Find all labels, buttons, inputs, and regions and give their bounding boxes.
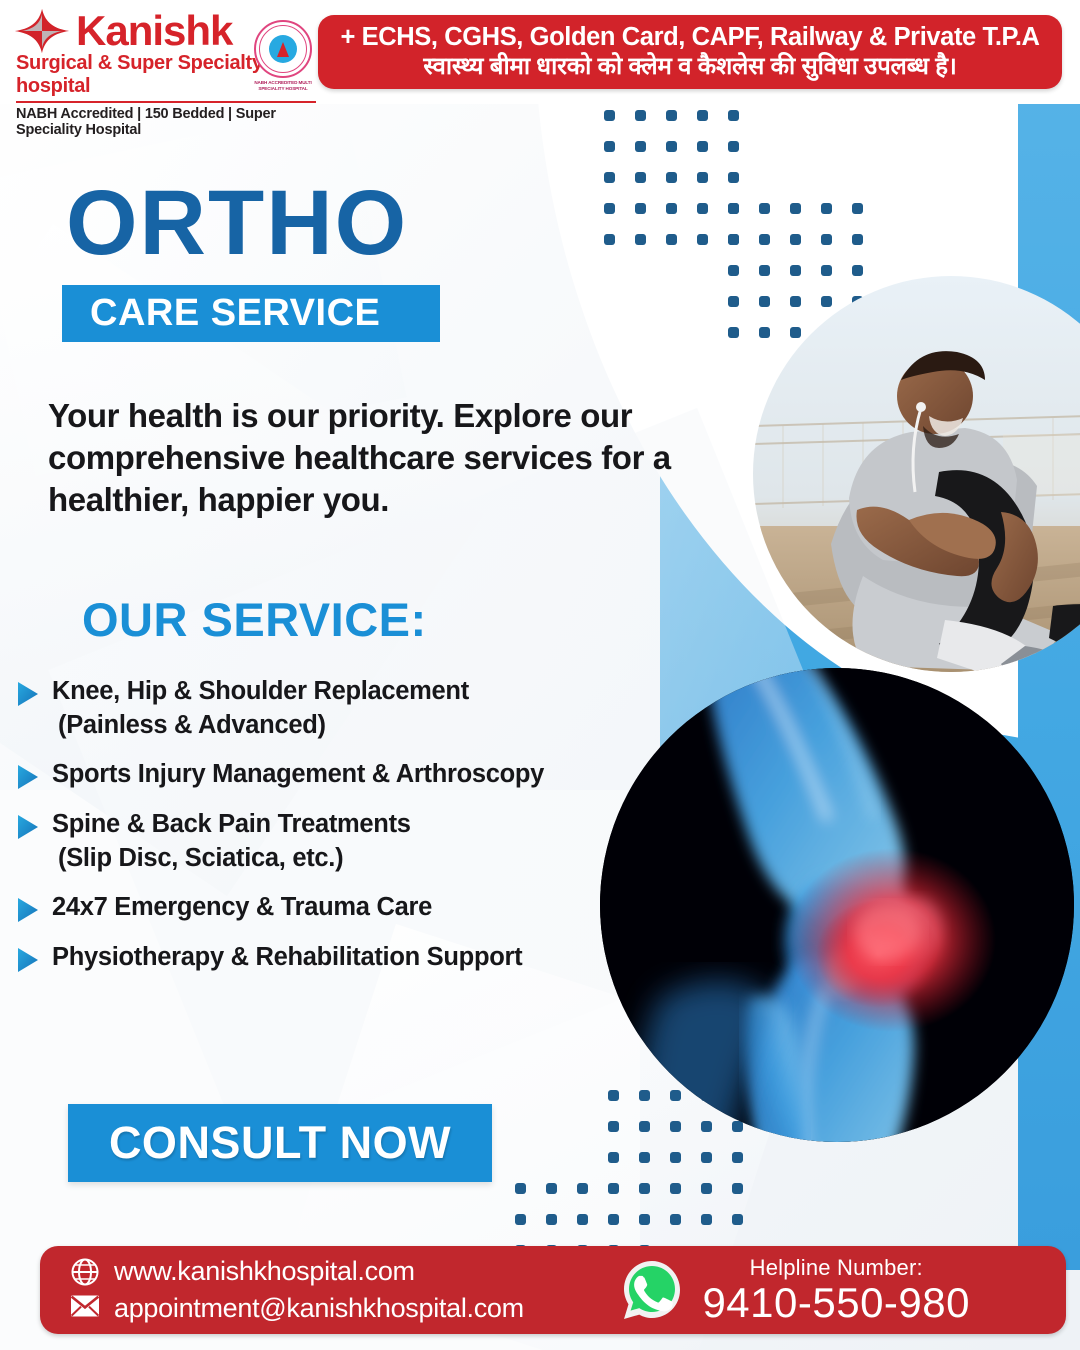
- service-item-text: Sports Injury Management & Arthroscopy: [52, 758, 544, 792]
- service-item-text: Spine & Back Pain Treatments(Slip Disc, …: [52, 808, 411, 875]
- service-item-subtext: (Slip Disc, Sciatica, etc.): [52, 842, 411, 876]
- subtitle-text: CARE SERVICE: [62, 292, 380, 335]
- consult-now-label: CONSULT NOW: [109, 1117, 451, 1169]
- consult-now-button[interactable]: CONSULT NOW: [68, 1104, 492, 1182]
- tagline-text: Your health is our priority. Explore our…: [48, 395, 688, 522]
- helpline-number: 9410-550-980: [702, 1281, 970, 1325]
- envelope-icon: [70, 1294, 100, 1324]
- website-contact-row[interactable]: www.kanishkhospital.com: [70, 1256, 524, 1287]
- service-list-item: Knee, Hip & Shoulder Replacement(Painles…: [16, 675, 626, 742]
- four-point-star-icon: [14, 8, 70, 54]
- arrow-bullet-icon: [16, 814, 40, 840]
- website-text: www.kanishkhospital.com: [114, 1256, 415, 1287]
- service-list-item: 24x7 Emergency & Trauma Care: [16, 891, 626, 925]
- whatsapp-icon[interactable]: [620, 1258, 684, 1322]
- logo-divider: [16, 101, 316, 103]
- nabh-accreditation-seal: NABH ACCREDITED MULTI SPECIALITY HOSPITA…: [252, 20, 314, 92]
- service-item-text: 24x7 Emergency & Trauma Care: [52, 891, 432, 925]
- globe-icon: [70, 1257, 100, 1287]
- email-contact-row[interactable]: appointment@kanishkhospital.com: [70, 1293, 524, 1324]
- hospital-name: Kanishk: [76, 10, 232, 52]
- services-list: Knee, Hip & Shoulder Replacement(Painles…: [16, 675, 626, 991]
- tpa-insurance-banner: + ECHS, CGHS, Golden Card, CAPF, Railway…: [318, 15, 1062, 89]
- page-title: ORTHO: [66, 177, 408, 269]
- tpa-banner-line-2: स्वास्थ्य बीमा धारको को क्लेम व कैशलेस क…: [423, 53, 956, 82]
- subtitle-badge: CARE SERVICE: [62, 285, 440, 342]
- arrow-bullet-icon: [16, 764, 40, 790]
- arrow-bullet-icon: [16, 897, 40, 923]
- arrow-bullet-icon: [16, 947, 40, 973]
- contact-footer-bar: www.kanishkhospital.com appointment@kani…: [40, 1246, 1066, 1334]
- poster-header: Kanishk Surgical & Super Specialty hospi…: [0, 0, 1080, 104]
- knee-joint-xray-photo: [600, 668, 1074, 1142]
- service-list-item: Physiotherapy & Rehabilitation Support: [16, 941, 626, 975]
- nabh-seal-caption: NABH ACCREDITED MULTI SPECIALITY HOSPITA…: [252, 80, 314, 91]
- helpline-label: Helpline Number:: [750, 1255, 923, 1281]
- services-heading: OUR SERVICE:: [82, 592, 427, 647]
- accreditation-line: NABH Accredited | 150 Bedded | Super Spe…: [8, 106, 328, 138]
- poster-canvas: Kanishk Surgical & Super Specialty hospi…: [0, 0, 1080, 1350]
- service-list-item: Sports Injury Management & Arthroscopy: [16, 758, 626, 792]
- service-list-item: Spine & Back Pain Treatments(Slip Disc, …: [16, 808, 626, 875]
- service-item-text: Knee, Hip & Shoulder Replacement(Painles…: [52, 675, 469, 742]
- email-text: appointment@kanishkhospital.com: [114, 1293, 524, 1324]
- arrow-bullet-icon: [16, 681, 40, 707]
- tpa-banner-line-1: + ECHS, CGHS, Golden Card, CAPF, Railway…: [340, 23, 1039, 51]
- service-item-text: Physiotherapy & Rehabilitation Support: [52, 941, 522, 975]
- service-item-subtext: (Painless & Advanced): [52, 709, 469, 743]
